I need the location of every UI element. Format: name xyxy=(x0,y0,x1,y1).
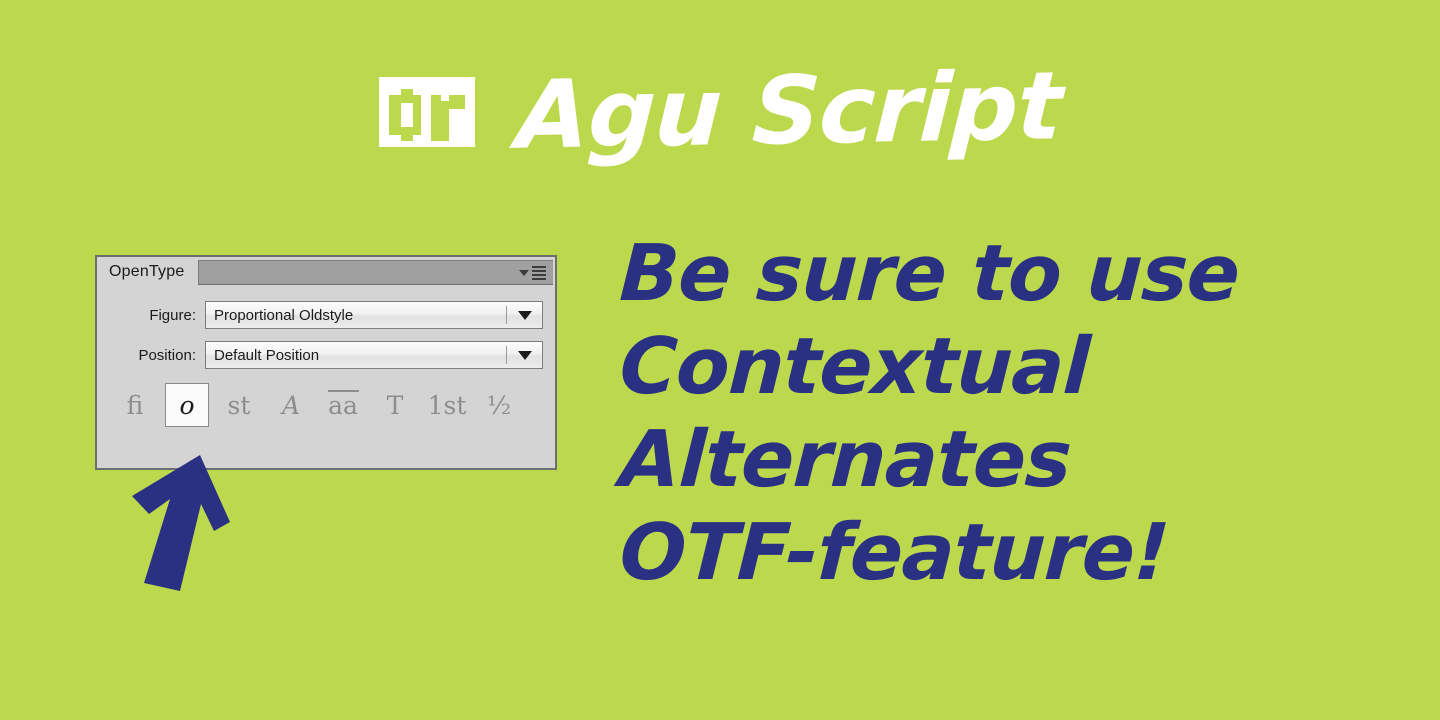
promo-line-2: Contextual xyxy=(618,321,1423,414)
swash-glyph: A xyxy=(282,393,300,418)
ordinals-button[interactable]: 1st xyxy=(425,383,469,427)
durotype-dr-logo xyxy=(379,77,475,147)
pointer-arrow xyxy=(118,452,268,602)
figure-select[interactable]: Proportional Oldstyle xyxy=(205,301,543,329)
position-label: Position: xyxy=(107,347,205,364)
promo-line-1: Be sure to use xyxy=(618,228,1423,321)
stylistic-alternates-glyph: aa xyxy=(328,393,358,418)
position-select-value: Default Position xyxy=(206,347,506,364)
select-separator xyxy=(506,306,507,324)
promo-line-4: OTF-feature! xyxy=(618,507,1423,600)
titling-alternates-button[interactable]: T xyxy=(373,383,417,427)
standard-ligatures-button[interactable]: fi xyxy=(113,383,157,427)
promo-line-3: Alternates xyxy=(618,414,1423,507)
swash-button[interactable]: A xyxy=(269,383,313,427)
promo-text: Be sure to use Contextual Alternates OTF… xyxy=(620,228,1420,600)
fractions-button[interactable]: ½ xyxy=(477,383,521,427)
contextual-alternates-button[interactable]: o xyxy=(165,383,209,427)
font-title: Agu Script xyxy=(514,60,1063,163)
stylistic-alternates-button[interactable]: aa xyxy=(321,383,365,427)
panel-menu-icon[interactable] xyxy=(532,266,546,280)
discretionary-ligatures-glyph: st xyxy=(228,393,251,418)
tab-opentype[interactable]: OpenType xyxy=(97,257,198,287)
panel-tab-filler xyxy=(198,260,553,285)
fractions-glyph: ½ xyxy=(487,393,511,418)
figure-row: Figure: Proportional Oldstyle xyxy=(107,299,543,331)
discretionary-ligatures-button[interactable]: st xyxy=(217,383,261,427)
figure-label: Figure: xyxy=(107,307,205,324)
opentype-panel[interactable]: OpenType Figure: Proportional Oldstyle P… xyxy=(95,255,557,470)
position-row: Position: Default Position xyxy=(107,339,543,371)
header: Agu Script xyxy=(0,52,1440,172)
poster-canvas: Agu Script OpenType Figure: Proportional… xyxy=(0,0,1440,720)
standard-ligatures-glyph: fi xyxy=(127,393,144,418)
select-separator xyxy=(506,346,507,364)
figure-select-value: Proportional Oldstyle xyxy=(206,307,506,324)
chevron-down-icon[interactable] xyxy=(518,351,532,360)
chevron-down-icon[interactable] xyxy=(518,311,532,320)
tab-opentype-label: OpenType xyxy=(109,263,184,281)
opentype-feature-buttons: fi o st A aa T 1st ½ xyxy=(97,383,555,427)
contextual-alternates-glyph: o xyxy=(179,393,194,418)
ordinals-glyph: 1st xyxy=(428,393,467,418)
panel-tab-bar: OpenType xyxy=(97,257,555,287)
titling-alternates-glyph: T xyxy=(387,393,404,418)
chevron-down-icon[interactable] xyxy=(519,270,529,276)
position-select[interactable]: Default Position xyxy=(205,341,543,369)
